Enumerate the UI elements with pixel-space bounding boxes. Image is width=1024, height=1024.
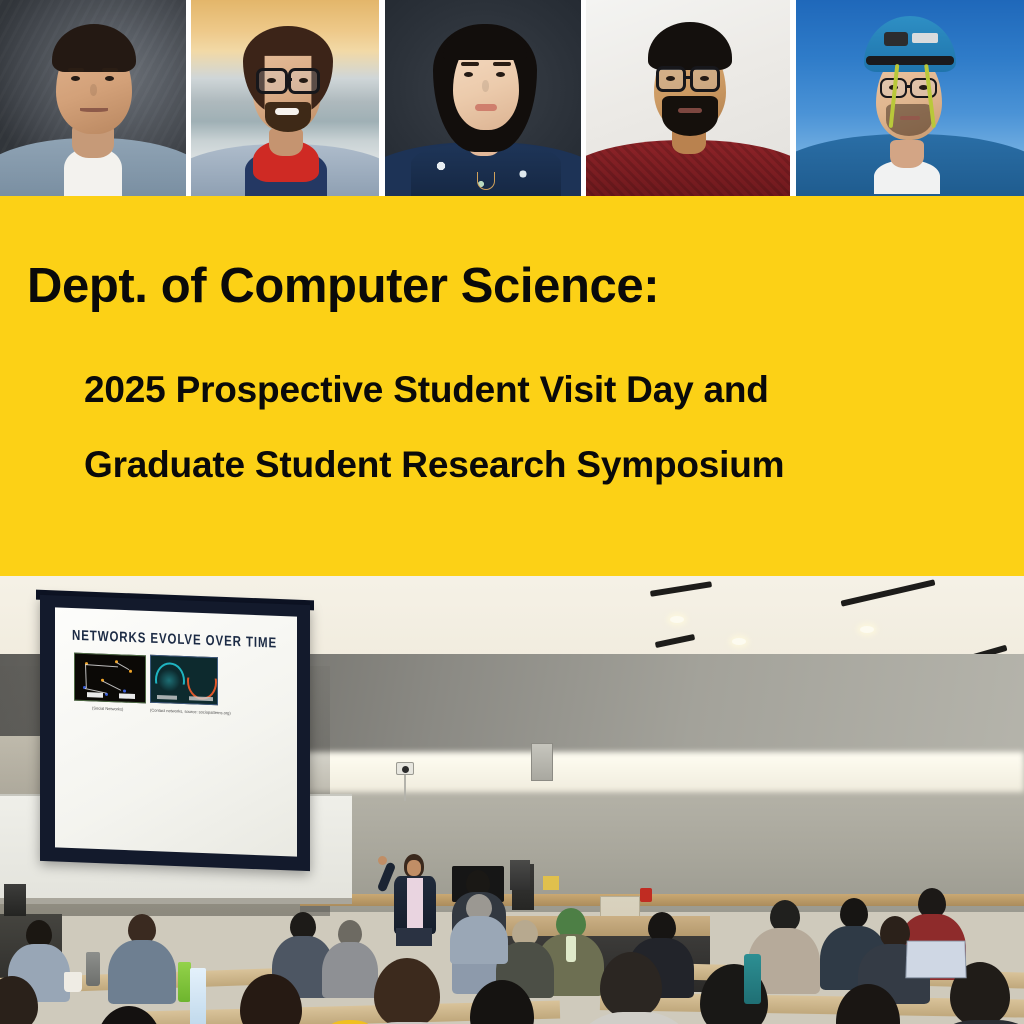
left-coffee-machine (4, 884, 26, 916)
portrait-1-brow-right (102, 68, 118, 72)
portrait-4-eye-left (666, 76, 675, 81)
portrait-3-necklace (477, 172, 495, 190)
portrait-3-eye-left (464, 72, 473, 77)
event-poster: Dept. of Computer Science: 2025 Prospect… (0, 0, 1024, 1024)
ceiling-downlight (670, 616, 684, 623)
portrait-5-headlamp (884, 32, 908, 46)
portrait-4-glasses-bridge (686, 76, 692, 79)
page-title: Dept. of Computer Science: (27, 262, 659, 311)
whiteboard-tray (0, 898, 352, 904)
subtitle-line-2: Graduate Student Research Symposium (84, 446, 784, 483)
ceiling-downlight (732, 638, 746, 645)
subtitle-line-1: 2025 Prospective Student Visit Day and (84, 371, 769, 408)
water-bottle (190, 968, 206, 1024)
portrait-5 (796, 0, 1024, 196)
portrait-1 (0, 0, 186, 196)
portrait-2-glasses-bridge (286, 78, 292, 81)
portrait-4-beard (662, 96, 718, 136)
portrait-1-eye-left (71, 76, 80, 81)
portrait-3-brow-right (493, 62, 511, 66)
portrait-5-glasses-bridge (907, 85, 911, 88)
presenter-legs (396, 928, 432, 946)
portrait-2-beard (265, 102, 311, 132)
wall-camera-icon (396, 762, 414, 775)
portrait-3-mouth (475, 104, 497, 111)
portrait-1-nose (90, 84, 97, 96)
presenter-hand (378, 856, 387, 865)
portrait-1-mouth (80, 108, 108, 112)
portrait-3-eye-right (496, 72, 505, 77)
portrait-3 (385, 0, 581, 196)
coffee-machine (510, 860, 530, 890)
portrait-5-helmet-logo (912, 33, 938, 43)
portrait-2-neck (269, 128, 303, 156)
portrait-3-brow-left (461, 62, 479, 66)
travel-mug (86, 952, 100, 986)
portrait-2 (191, 0, 379, 196)
paper-cup (64, 972, 82, 992)
portrait-2-smile (275, 108, 299, 115)
teal-bottle (744, 954, 761, 1004)
portrait-2-eye-right (299, 78, 308, 83)
laptop (905, 941, 966, 979)
portrait-5-helmet-band (866, 56, 954, 65)
ceiling-downlight (860, 626, 874, 633)
portrait-3-nose (482, 80, 489, 92)
portrait-5-neck (890, 140, 924, 168)
portrait-4-eye-right (700, 76, 709, 81)
lecture-hall-photo: NETWORKS EVOLVE OVER TIME (Social Networ… (0, 576, 1024, 1024)
slide-image-contact-networks (150, 655, 218, 706)
portrait-1-eye-right (105, 76, 114, 81)
portrait-5-mouth (900, 116, 920, 120)
presenter-shirt (407, 878, 423, 930)
portrait-4 (586, 0, 790, 196)
portrait-2-eye-left (267, 78, 276, 83)
fire-alarm (640, 888, 652, 902)
portrait-1-brow-left (68, 68, 84, 72)
camera-mount (404, 775, 406, 801)
wall-speaker (531, 743, 553, 781)
presenter-face (407, 860, 421, 876)
yellow-box (543, 876, 559, 890)
portrait-4-mouth (678, 108, 702, 113)
small-bottle (566, 936, 576, 962)
slide-image-social-networks (74, 653, 146, 704)
portrait-strip (0, 0, 1024, 196)
